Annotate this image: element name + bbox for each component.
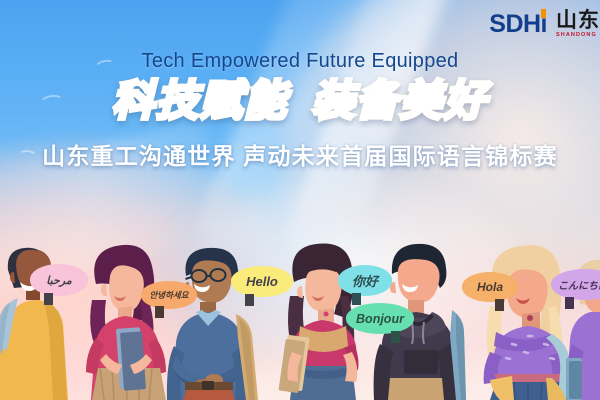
crowd-illustration — [0, 240, 600, 400]
speech-bubble-korean: 안녕하세요 — [141, 281, 197, 309]
speech-bubble-spanish: Hola — [462, 272, 518, 302]
logo-chinese-block: 山东 SHANDONG — [556, 10, 600, 39]
speech-bubble-french: Bonjour — [346, 303, 414, 334]
logo-brand-chinese: 山东 — [556, 10, 600, 31]
logo-wordmark: SDHi — [489, 12, 547, 37]
promotional-banner: SDHi 山东 SHANDONG Tech Empowered Future E… — [0, 0, 600, 400]
headline-part-two: 装备美好 — [312, 77, 488, 124]
headline-block: Tech Empowered Future Equipped 科技赋能 装备美好… — [0, 50, 600, 171]
headline-part-one: 科技赋能 — [112, 77, 288, 124]
chinese-headline: 科技赋能 装备美好 — [0, 79, 600, 123]
chinese-subtitle: 山东重工沟通世界 声动未来首届国际语言锦标赛 — [0, 137, 600, 171]
speech-bubble-chinese: 你好 — [338, 265, 392, 296]
person-figure-2 — [86, 245, 166, 400]
headline-spacer — [288, 77, 312, 124]
speech-bubble-english: Hello — [231, 266, 293, 297]
logo-brand-text: SDHi — [489, 10, 547, 38]
logo-brand-romanized: SHANDONG — [556, 33, 600, 39]
logo-accent-dot-icon — [541, 9, 546, 18]
speech-bubble-arabic: مرحبا — [30, 264, 88, 296]
english-tagline: Tech Empowered Future Equipped — [0, 50, 600, 73]
person-figure-6 — [484, 245, 571, 400]
sdhi-logo[interactable]: SDHi 山东 SHANDONG — [489, 10, 600, 39]
